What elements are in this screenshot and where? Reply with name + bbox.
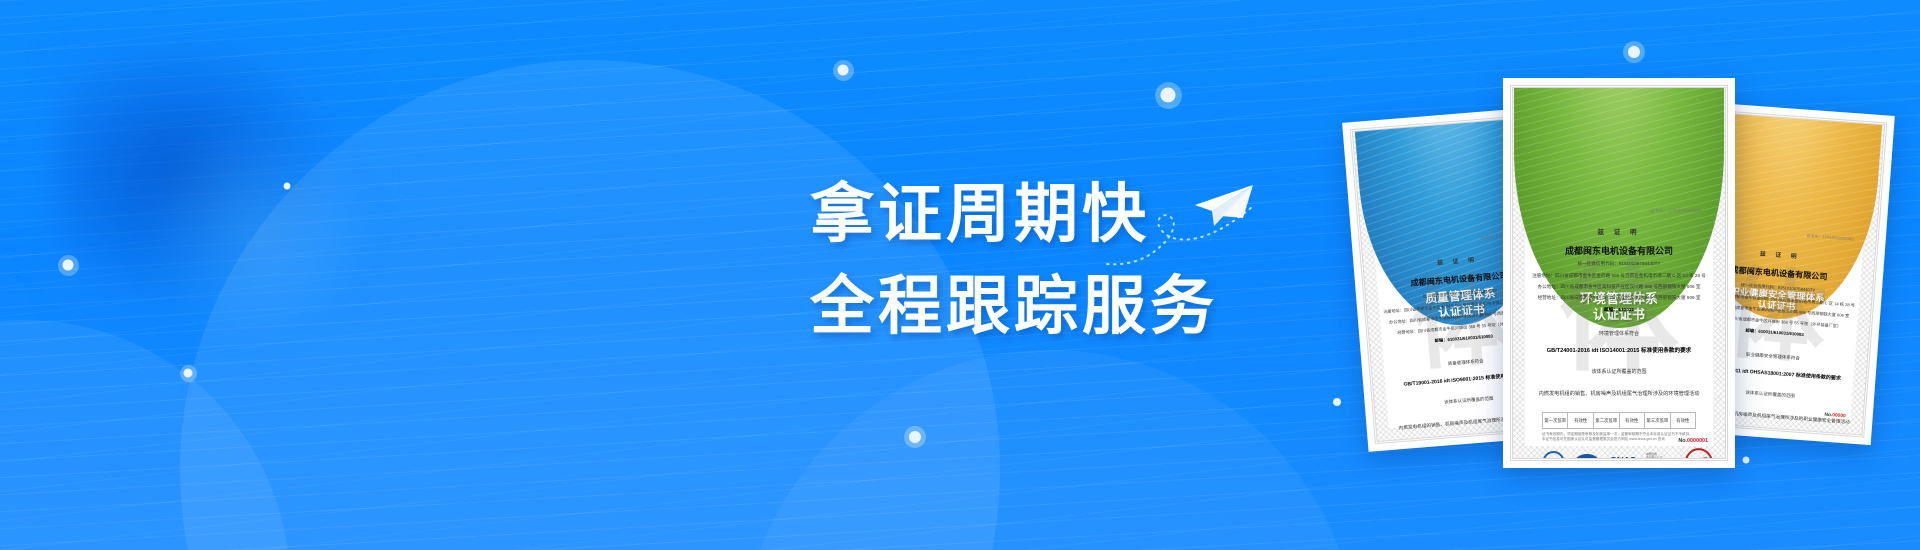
promo-banner: 拿证周期快 全程跟踪服务 质量管理体系认证证书体证书号：CT01W2002W08… <box>0 0 1920 550</box>
audit-cell: 第一次监审 <box>1543 413 1569 428</box>
audit-cell: 有效性 <box>1568 413 1594 428</box>
certificate-number: No.0000001 <box>1678 438 1708 444</box>
dot-core <box>909 431 921 443</box>
background-circle-right <box>740 350 1360 550</box>
coverage-scope: 内燃发电机组的销售、机房噪声及机组尾气治理所涉及的环境管理活动 <box>1525 390 1713 397</box>
dot-core <box>184 369 193 378</box>
audit-record-table: 第一次监审有效性第二次监审有效性第三次监审有效性 <box>1542 412 1696 429</box>
audit-cell: 有效性 <box>1671 413 1696 428</box>
zhou-certification-icon: 周 <box>1542 451 1565 462</box>
dot-3 <box>180 365 197 382</box>
certificate-face: 环境管理体系认证证书体证书号：17418E2002E08兹 证 明成都闽东电机设… <box>1525 100 1713 446</box>
fine-print: 证书有效期内，须定期接受审核及年度监审一次，监管审核期不符合本标准认证证书不予维… <box>1542 432 1696 442</box>
business-address: 经营地址：四川省成都市金牛区高科技产业区汉川路 866 号西部钢铁大厦 606 … <box>1525 295 1713 301</box>
audit-cell: 有效性 <box>1473 441 1496 445</box>
dot-7 <box>1333 398 1341 406</box>
scope-label: 环境管理体系符合 <box>1525 330 1713 337</box>
dot-core <box>63 260 74 271</box>
radial-glow-dark <box>55 35 375 335</box>
audit-cell: 第三次监审 <box>1767 437 1801 438</box>
dot-2 <box>284 183 291 190</box>
certificate-group: 质量管理体系认证证书体证书号：CT01W2002W08兹 证 明成都闽东电机设备… <box>1355 78 1895 478</box>
audit-cell: 第二次监审 <box>1594 413 1620 428</box>
coverage-label: 该体系认证所覆盖的范围 <box>1525 368 1713 375</box>
audit-cell: 第三次监审 <box>1645 413 1671 428</box>
certificate-border: 环境管理体系认证证书体证书号：17418E2002E08兹 证 明成都闽东电机设… <box>1510 85 1728 461</box>
dot-5 <box>1155 82 1182 109</box>
background-circle-left <box>0 320 290 550</box>
dot-core <box>1333 398 1341 406</box>
radial-glow-light <box>140 120 370 340</box>
cnas-caption: 中国合格评定国家认可MANAGEMENT SYSTEMCNAS C174-M <box>1646 453 1676 461</box>
audit-cell: 有效性 <box>1620 413 1646 428</box>
credit-code: 统一社会信用代码：91510106758440TY <box>1525 261 1713 267</box>
certificate-number-digits: 0000001 <box>1687 438 1708 444</box>
accreditation-logos: 周IAFCNAS中国合格评定国家认可MANAGEMENT SYSTEMCNAS … <box>1542 448 1713 461</box>
red-seal-icon: 认证专用章 <box>1682 445 1716 461</box>
paper-plane-icon <box>1185 182 1255 234</box>
standard-reference: GB/T24001-2016 idt ISO14001:2015 标准使用条款的… <box>1525 346 1713 354</box>
cnas-caption-line: 评定国家认可 <box>1646 457 1676 461</box>
dot-1 <box>58 255 79 276</box>
dot-core <box>1161 88 1176 103</box>
dot-core <box>1628 46 1640 58</box>
audit-cell: 第二次监审 <box>1450 442 1473 444</box>
audit-cell: 有效性 <box>1733 434 1767 438</box>
dot-8 <box>904 426 926 448</box>
certificate-serial: 证书号：17418E2002E08 <box>1650 208 1701 214</box>
certificate-environment[interactable]: 环境管理体系认证证书体证书号：17418E2002E08兹 证 明成都闽东电机设… <box>1503 78 1735 468</box>
postcode: 邮编：610031 <box>1525 306 1713 313</box>
dot-core <box>838 65 849 76</box>
headline-line-2: 全程跟踪服务 <box>810 260 1218 352</box>
proof-label: 兹 证 明 <box>1525 226 1713 236</box>
dot-4 <box>833 60 854 81</box>
company-name: 成都闽东电机设备有限公司 <box>1525 244 1713 257</box>
dot-core <box>284 183 291 190</box>
dot-6 <box>1623 41 1645 63</box>
certificate-number-digits: 00000 <box>1832 413 1846 419</box>
registered-address: 注册地址：四川省成都市金牛区金府路 555 号万贯五金机电市场二期 C 区 14… <box>1525 273 1713 279</box>
cnas-logo-icon: CNAS <box>1609 456 1637 461</box>
iaf-logo-icon: IAF <box>1574 454 1600 462</box>
office-address: 办公地址：四川省成都市金牛区高科技产业区汉川路 866 号西部钢铁大厦 606 … <box>1525 284 1713 290</box>
